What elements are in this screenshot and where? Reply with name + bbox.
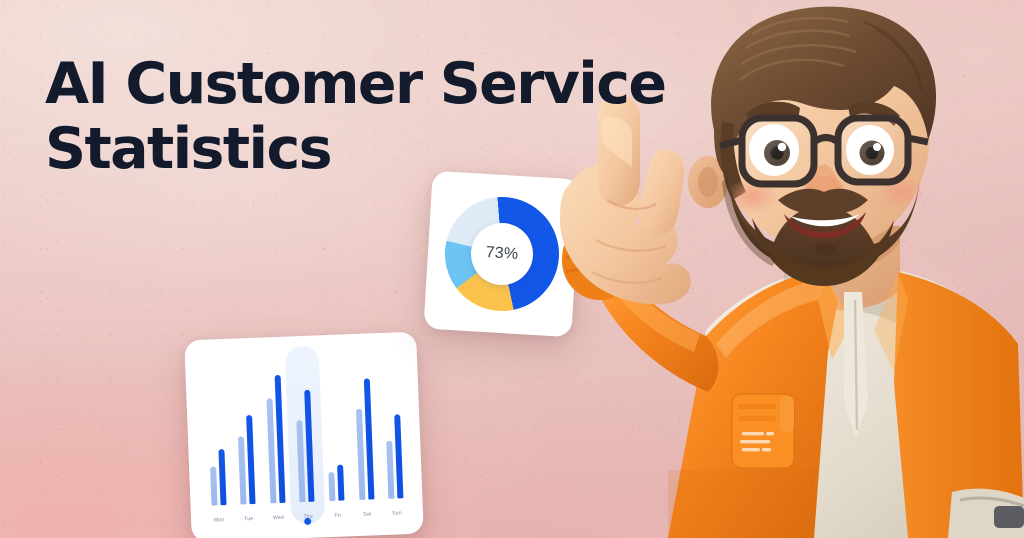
bar-sat-light [356, 409, 365, 500]
bar-thu-light [297, 420, 306, 502]
bar-axis-label-sun: Sun [385, 510, 409, 517]
page-title-line1: AI Customer Service [45, 51, 665, 117]
jacket-chest-pocket [732, 394, 794, 468]
bar-sun-dark [395, 415, 404, 499]
bar-tue-dark [246, 415, 255, 504]
bar-axis-label-mon: Mon [207, 517, 231, 524]
bar-chart-groups [201, 354, 408, 506]
bar-chart-axis-labels: MonTueWedThuFriSatSun [207, 510, 409, 524]
bar-wed-dark [274, 375, 285, 503]
bar-fri-light [328, 472, 335, 501]
bar-axis-label-wed: Wed [266, 515, 290, 522]
bar-group-mon[interactable] [201, 361, 231, 506]
bar-chart-plot: MonTueWedThuFriSatSun [201, 350, 410, 534]
bar-group-sun[interactable] [379, 354, 409, 499]
poster-canvas: AI Customer Service Statistics MonTueWed… [0, 0, 1024, 538]
bar-fri-dark [337, 465, 344, 501]
bar-group-tue[interactable] [231, 360, 261, 505]
bar-group-wed[interactable] [260, 359, 290, 504]
donut-center-value: 73% [485, 244, 519, 264]
bar-group-fri[interactable] [320, 356, 350, 501]
donut-chart: 73% [442, 194, 563, 315]
pocket-text [740, 432, 774, 451]
bar-axis-label-fri: Fri [326, 512, 350, 519]
bar-thu-dark [305, 389, 315, 501]
bar-chart-card[interactable]: MonTueWedThuFriSatSun [184, 332, 424, 538]
bar-mon-dark [218, 449, 226, 505]
bar-wed-light [266, 398, 276, 503]
bar-group-sat[interactable] [349, 355, 379, 500]
bar-axis-label-sat: Sat [355, 511, 379, 518]
bar-axis-label-thu: Thu [296, 513, 320, 520]
bar-mon-light [210, 467, 217, 506]
bar-tue-light [238, 437, 247, 505]
page-title-line2: Statistics [45, 117, 745, 182]
page-title: AI Customer Service Statistics [45, 52, 745, 182]
bar-sun-light [387, 441, 395, 499]
bar-axis-label-tue: Tue [237, 516, 261, 523]
bar-sat-dark [364, 378, 375, 499]
bar-group-thu[interactable] [290, 358, 320, 503]
